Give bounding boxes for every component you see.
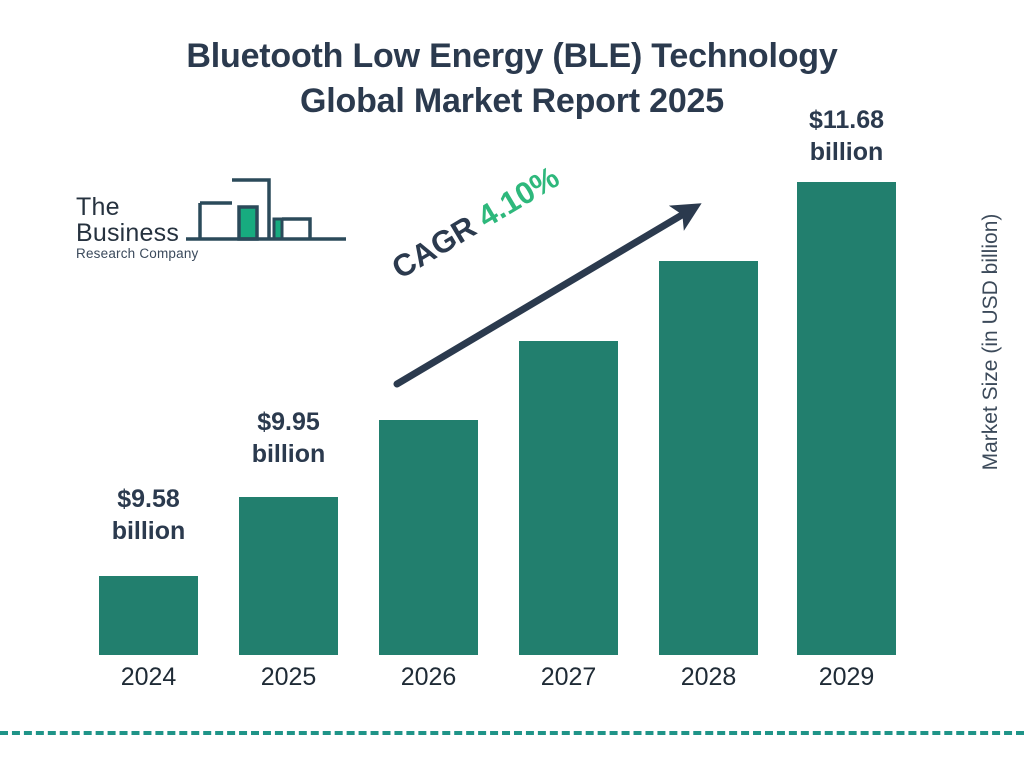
bar-2024[interactable] <box>99 576 198 655</box>
bar-value-label-2024: $9.58 billion <box>79 483 218 547</box>
bar-value-unit-2024: billion <box>79 515 218 547</box>
bar-value-amount-2025: $9.95 <box>219 406 358 438</box>
bar-value-amount-2029: $11.68 <box>777 104 916 136</box>
bar-value-unit-2025: billion <box>219 438 358 470</box>
x-tick-label-2027: 2027 <box>499 662 638 692</box>
x-tick-label-2029: 2029 <box>777 662 916 692</box>
bar-chart-plot-area: $9.58 billion $9.95 billion $11.68 billi… <box>0 0 1024 768</box>
x-tick-label-2024: 2024 <box>79 662 218 692</box>
cagr-label: CAGR <box>386 204 490 285</box>
cagr-value: 4.10% <box>472 159 565 234</box>
bar-2029[interactable] <box>797 182 896 655</box>
bar-value-unit-2029: billion <box>777 136 916 168</box>
bar-value-amount-2024: $9.58 <box>79 483 218 515</box>
x-tick-label-2025: 2025 <box>219 662 358 692</box>
y-axis-title: Market Size (in USD billion) <box>973 212 1009 472</box>
footer-divider <box>0 731 1024 735</box>
bar-2025[interactable] <box>239 497 338 655</box>
x-tick-label-2026: 2026 <box>359 662 498 692</box>
x-tick-label-2028: 2028 <box>639 662 778 692</box>
bar-2026[interactable] <box>379 420 478 655</box>
cagr-annotation: CAGR 4.10% <box>386 143 593 287</box>
bar-2027[interactable] <box>519 341 618 655</box>
bar-2028[interactable] <box>659 261 758 655</box>
bar-value-label-2029: $11.68 billion <box>777 104 916 168</box>
bar-value-label-2025: $9.95 billion <box>219 406 358 470</box>
